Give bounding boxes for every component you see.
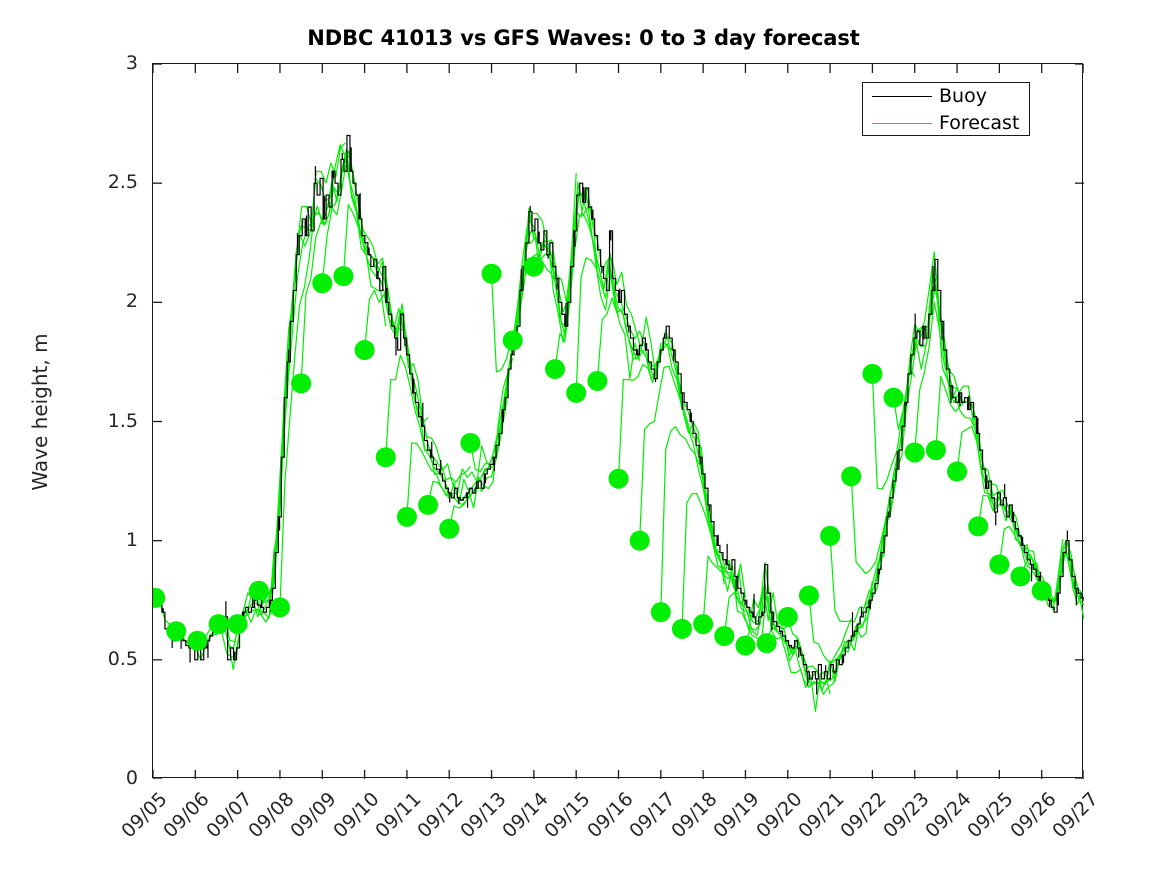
forecast-marker-dot — [778, 607, 798, 627]
forecast-marker-dot — [503, 330, 523, 350]
forecast-marker-dot — [228, 614, 248, 634]
legend-item-forecast[interactable]: Forecast — [863, 110, 1031, 137]
forecast-marker-dot — [397, 507, 417, 527]
forecast-marker-dot — [249, 581, 269, 601]
forecast-trace — [851, 252, 978, 574]
plot-area — [152, 63, 1083, 778]
buoy-series-line — [153, 136, 1084, 695]
y-tick-label: 3 — [36, 52, 138, 74]
forecast-marker-dot — [1011, 566, 1031, 586]
forecast-marker-dot — [1032, 581, 1052, 601]
forecast-marker-dot — [545, 359, 565, 379]
legend-label: Forecast — [939, 112, 1019, 134]
forecast-marker-dot — [799, 585, 819, 605]
legend-line-swatch — [872, 96, 932, 97]
legend[interactable]: BuoyForecast — [862, 82, 1030, 136]
forecast-marker-dot — [672, 619, 692, 639]
y-tick-label: 1.5 — [36, 410, 138, 432]
forecast-trace — [619, 336, 746, 597]
forecast-marker-dot — [884, 388, 904, 408]
forecast-marker-dot — [209, 614, 229, 634]
forecast-marker-dot — [312, 273, 332, 293]
chart-title: NDBC 41013 vs GFS Waves: 0 to 3 day fore… — [0, 26, 1167, 50]
forecast-marker-dot — [355, 340, 375, 360]
figure-canvas: NDBC 41013 vs GFS Waves: 0 to 3 day fore… — [0, 0, 1167, 875]
forecast-marker-dot — [651, 602, 671, 622]
y-tick-label: 2 — [36, 290, 138, 312]
forecast-marker-dot — [905, 442, 925, 462]
forecast-marker-dot — [153, 588, 165, 608]
forecast-marker-dot — [333, 266, 353, 286]
forecast-marker-dot — [270, 597, 290, 617]
forecast-marker-dot — [757, 633, 777, 653]
forecast-marker-dot — [947, 462, 967, 482]
forecast-marker-dot — [609, 469, 629, 489]
forecast-marker-dot — [714, 626, 734, 646]
forecast-marker-dot — [926, 440, 946, 460]
y-tick-label: 0.5 — [36, 648, 138, 670]
forecast-trace — [407, 208, 534, 517]
forecast-trace — [386, 355, 513, 508]
legend-label: Buoy — [939, 85, 987, 107]
forecast-marker-dot — [418, 495, 438, 515]
legend-line-swatch — [872, 123, 932, 124]
forecast-marker-dot — [989, 555, 1009, 575]
forecast-marker-dot — [482, 264, 502, 284]
forecast-marker-dot — [630, 531, 650, 551]
forecast-marker-dot — [841, 466, 861, 486]
forecast-marker-dot — [460, 433, 480, 453]
forecast-marker-dot — [968, 516, 988, 536]
forecast-series-lines — [155, 143, 1084, 712]
forecast-marker-dots — [153, 257, 1052, 656]
forecast-trace — [640, 366, 767, 639]
forecast-trace — [322, 161, 449, 493]
forecast-marker-dot — [693, 614, 713, 634]
forecast-marker-dot — [187, 631, 207, 651]
plot-svg — [153, 64, 1084, 779]
buoy-trace — [153, 136, 1084, 695]
forecast-marker-dot — [587, 371, 607, 391]
forecast-marker-dot — [820, 526, 840, 546]
forecast-trace — [576, 254, 703, 479]
forecast-marker-dot — [291, 373, 311, 393]
forecast-marker-dot — [566, 383, 586, 403]
forecast-marker-dot — [524, 257, 544, 277]
axis-inner-ticks — [153, 64, 1084, 779]
y-tick-label: 2.5 — [36, 171, 138, 193]
forecast-marker-dot — [376, 447, 396, 467]
y-tick-label: 1 — [36, 529, 138, 551]
y-tick-label: 0 — [36, 767, 138, 789]
forecast-marker-dot — [735, 636, 755, 656]
forecast-marker-dot — [166, 621, 186, 641]
legend-item-buoy[interactable]: Buoy — [863, 83, 1031, 110]
forecast-marker-dot — [862, 364, 882, 384]
forecast-marker-dot — [439, 519, 459, 539]
forecast-trace — [597, 298, 724, 584]
